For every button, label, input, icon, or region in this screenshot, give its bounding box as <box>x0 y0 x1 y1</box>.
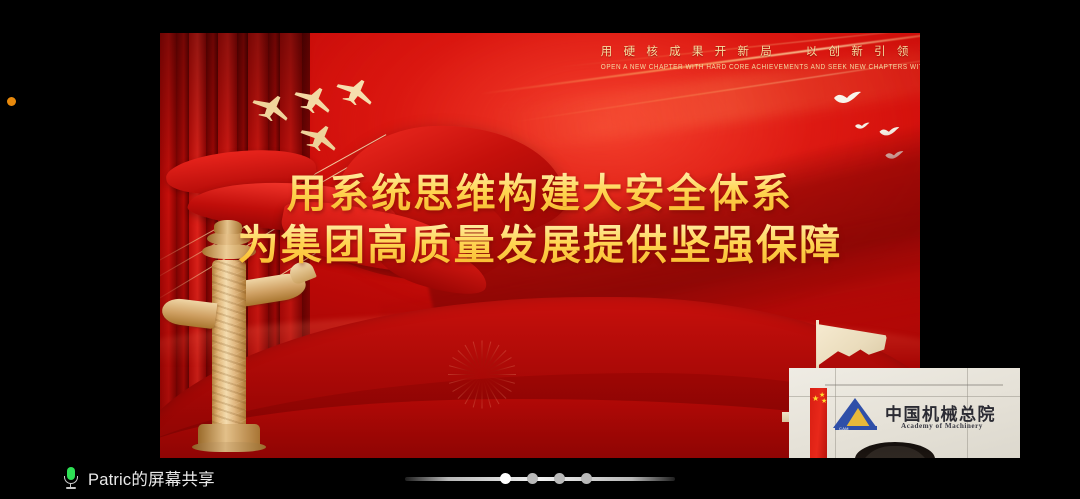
logo-text: CAM <box>839 426 849 431</box>
page-indicator-dots[interactable] <box>500 473 592 484</box>
slide-header-en: OPEN A NEW CHAPTER WITH HARD CORE ACHIEV… <box>601 63 913 71</box>
microphone-icon[interactable] <box>62 467 79 489</box>
airplane-icon <box>252 93 294 121</box>
slide-header-cn: 用 硬 核 成 果 开 新 局 以 创 新 引 领 谋 新 篇 <box>601 43 913 59</box>
screen-share-text: Patric的屏幕共享 <box>88 466 215 490</box>
airplane-icon <box>336 77 378 105</box>
slide-title-line-1: 用系统思维构建大安全体系 <box>160 168 920 219</box>
slide-title-line-2: 为集团高质量发展提供坚强保障 <box>160 219 920 271</box>
page-indicator[interactable] <box>405 473 675 485</box>
firework-burst-icon <box>446 338 518 410</box>
org-name-en: Academy of Machinery <box>901 422 983 430</box>
meeting-screen: 用 硬 核 成 果 开 新 局 以 创 新 引 领 谋 新 篇 OPEN A N… <box>0 0 1080 499</box>
notification-dot <box>7 97 16 106</box>
slide-title: 用系统思维构建大安全体系 为集团高质量发展提供坚强保障 <box>160 168 920 272</box>
airplane-icon <box>294 85 336 113</box>
slide-header: 用 硬 核 成 果 开 新 局 以 创 新 引 领 谋 新 篇 OPEN A N… <box>601 43 913 70</box>
wall-panel-edge <box>825 384 1003 386</box>
page-dot[interactable] <box>554 473 565 484</box>
page-dot[interactable] <box>527 473 538 484</box>
page-dot[interactable] <box>581 473 592 484</box>
academy-of-machinery-logo-icon: CAM <box>833 396 879 430</box>
airplane-icon <box>300 123 342 151</box>
screen-share-label: Patric的屏幕共享 <box>62 466 215 490</box>
dove-icon <box>832 89 862 114</box>
bottom-bar: Patric的屏幕共享 <box>0 458 1080 499</box>
page-dot-active[interactable] <box>500 473 511 484</box>
